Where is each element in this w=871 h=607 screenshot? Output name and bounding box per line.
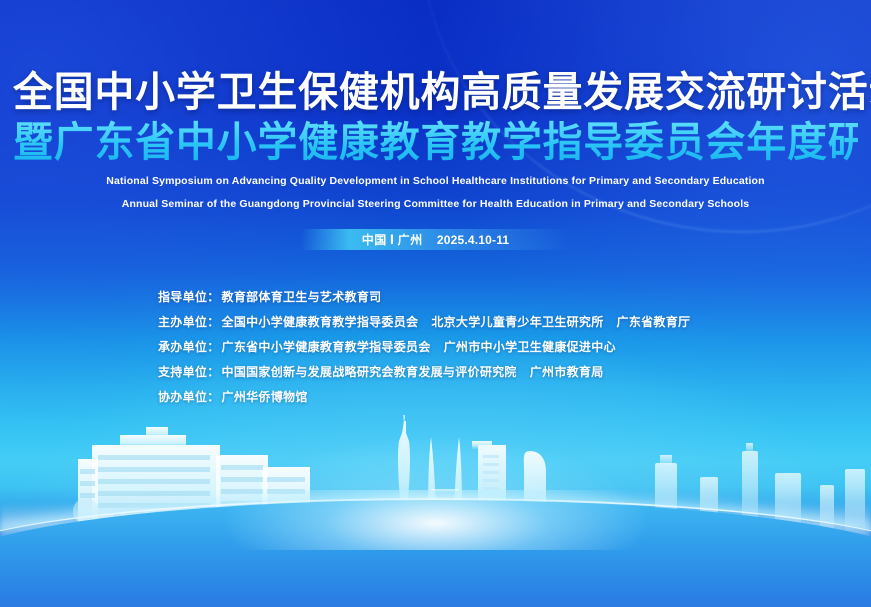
organization-label: 协办单位： [158, 388, 220, 405]
organization-row: 指导单位： 教育部体育卫生与艺术教育司 [158, 288, 690, 313]
organization-row: 主办单位： 全国中小学健康教育教学指导委员会 北京大学儿童青少年卫生研究所 广东… [158, 313, 690, 338]
location-date-badge: 中国l广州2025.4.10-11 [0, 229, 871, 250]
subtitle-english-line1: National Symposium on Advancing Quality … [0, 174, 871, 189]
page-title-secondary: 暨广东省中小学健康教育教学指导委员会年度研讨活动 [13, 118, 858, 166]
organization-value: 广州市教育局 [530, 363, 604, 380]
subtitle-english-line2: Annual Seminar of the Guangdong Provinci… [0, 197, 871, 212]
organization-value: 教育部体育卫生与艺术教育司 [222, 288, 382, 305]
organization-value: 中国国家创新与发展战略研究会教育发展与评价研究院 [222, 363, 517, 380]
organization-label: 承办单位： [158, 338, 220, 355]
organization-row: 协办单位： 广州华侨博物馆 [158, 388, 690, 413]
poster-titles: 全国中小学卫生保健机构高质量发展交流研讨活动 暨广东省中小学健康教育教学指导委员… [0, 68, 871, 212]
organization-value: 广东省教育厅 [617, 313, 691, 330]
horizon-arc [0, 490, 871, 607]
organization-values: 教育部体育卫生与艺术教育司 [222, 288, 382, 305]
organization-label: 主办单位： [158, 313, 220, 330]
organization-values: 全国中小学健康教育教学指导委员会 北京大学儿童青少年卫生研究所 广东省教育厅 [222, 313, 691, 330]
horizon-center-glow [226, 490, 646, 550]
organization-values: 广东省中小学健康教育教学指导委员会 广州市中小学卫生健康促进中心 [222, 338, 616, 355]
badge-date: 2025.4.10-11 [437, 233, 509, 247]
organization-value: 全国中小学健康教育教学指导委员会 [222, 313, 419, 330]
organization-value: 广东省中小学健康教育教学指导委员会 [222, 338, 431, 355]
organization-values: 中国国家创新与发展战略研究会教育发展与评价研究院 广州市教育局 [222, 363, 604, 380]
badge-content: 中国l广州2025.4.10-11 [362, 231, 510, 248]
organization-label: 指导单位： [158, 288, 220, 305]
organization-list: 指导单位： 教育部体育卫生与艺术教育司 主办单位： 全国中小学健康教育教学指导委… [158, 288, 690, 413]
conference-poster: 全国中小学卫生保健机构高质量发展交流研讨活动 暨广东省中小学健康教育教学指导委员… [0, 0, 871, 607]
organization-value: 北京大学儿童青少年卫生研究所 [431, 313, 603, 330]
organization-value: 广州华侨博物馆 [222, 388, 308, 405]
organization-label: 支持单位： [158, 363, 220, 380]
page-title-primary: 全国中小学卫生保健机构高质量发展交流研讨活动 [13, 68, 858, 116]
badge-bar: 中国l广州2025.4.10-11 [301, 229, 571, 250]
badge-country: 中国 [362, 233, 387, 247]
organization-value: 广州市中小学卫生健康促进中心 [444, 338, 616, 355]
organization-values: 广州华侨博物馆 [222, 388, 308, 405]
badge-separator: l [387, 233, 398, 247]
badge-city: 广州 [398, 233, 423, 247]
organization-row: 承办单位： 广东省中小学健康教育教学指导委员会 广州市中小学卫生健康促进中心 [158, 338, 690, 363]
organization-row: 支持单位： 中国国家创新与发展战略研究会教育发展与评价研究院 广州市教育局 [158, 363, 690, 388]
